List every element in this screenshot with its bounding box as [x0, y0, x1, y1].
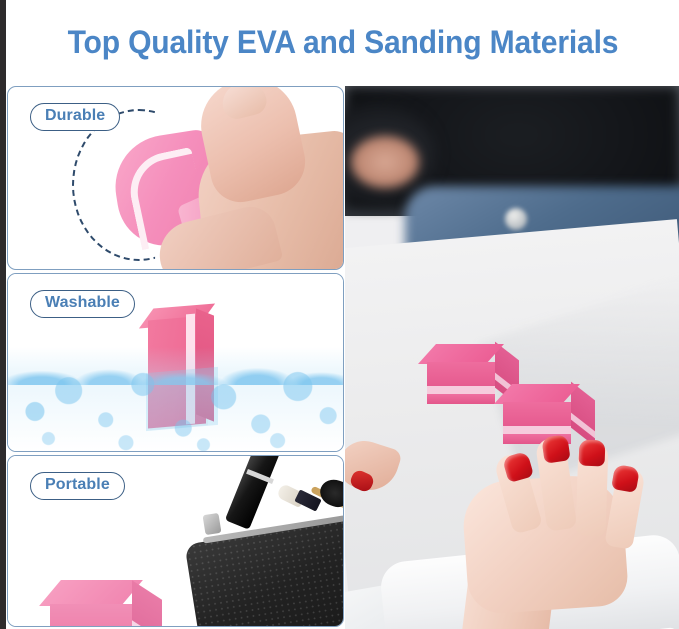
zipper-pull: [203, 513, 222, 535]
feature-badge-washable: Washable: [30, 290, 135, 318]
left-edge-bar: [0, 0, 6, 629]
block-side-face: [132, 580, 162, 627]
product-listing-image: Top Quality EVA and Sanding Materials Du…: [0, 0, 679, 629]
block-front-face: [503, 402, 571, 426]
block-front-face: [427, 362, 495, 386]
pink-sanding-block-flat: [50, 604, 132, 627]
header-banner: Top Quality EVA and Sanding Materials: [6, 0, 679, 85]
page-title: Top Quality EVA and Sanding Materials: [67, 24, 618, 61]
feature-badge-durable: Durable: [30, 103, 120, 131]
hero-photo: [345, 86, 679, 629]
hero-red-nail-middle: [541, 434, 570, 463]
lipstick-icon: [225, 455, 281, 530]
block-top-face: [39, 580, 143, 606]
feature-panel-portable: Portable: [7, 455, 344, 627]
block-white-stripe: [503, 426, 571, 434]
feature-panel-durable: Durable: [7, 86, 344, 270]
block-base: [427, 394, 495, 404]
hero-jeans-button: [505, 208, 527, 230]
feature-badge-portable: Portable: [30, 472, 125, 500]
hero-red-nail-ring: [579, 440, 606, 467]
water-splash-icon: [8, 347, 344, 451]
block-white-stripe: [427, 386, 495, 394]
makeup-brush-secondary-icon: [316, 476, 344, 511]
feature-panel-washable: Washable: [7, 273, 344, 452]
hero-blurred-hand: [351, 136, 419, 188]
feature-panel-column: Durable Washable: [7, 86, 344, 627]
